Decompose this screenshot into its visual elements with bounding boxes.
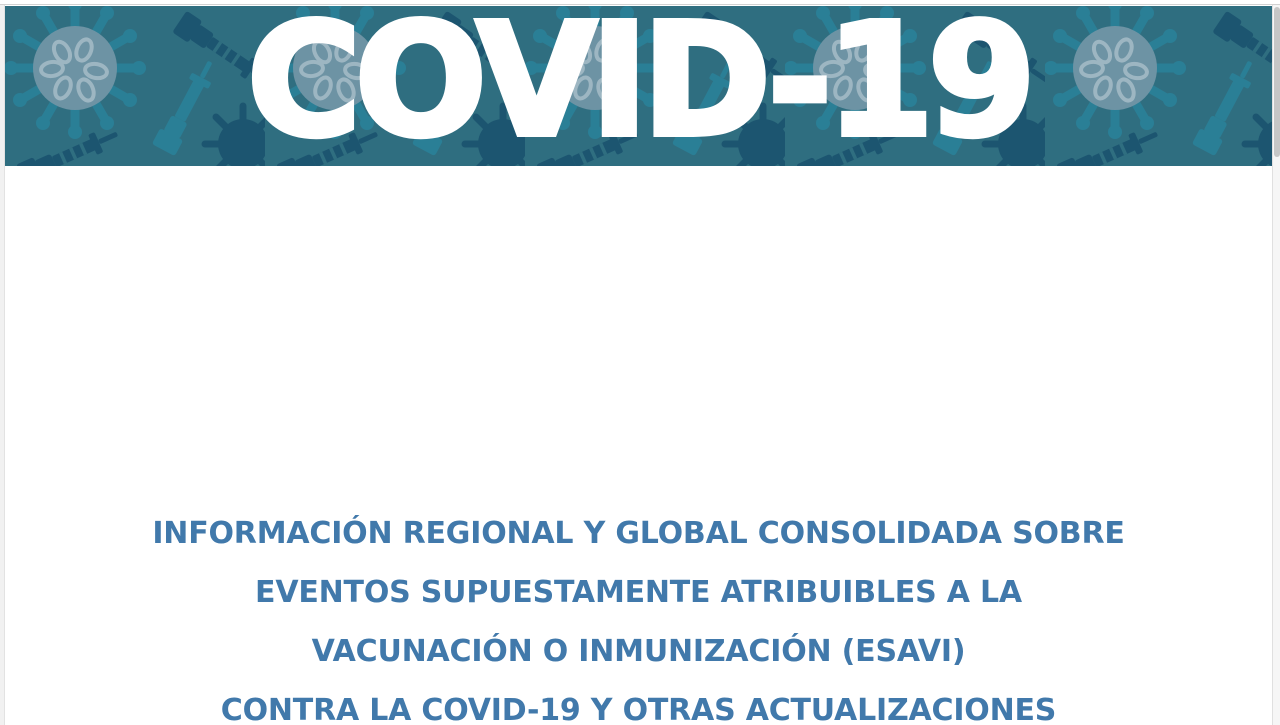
viewport-top-strip [0,0,1280,5]
slide-title-line-1: INFORMACIÓN REGIONAL Y GLOBAL CONSOLIDAD… [5,504,1272,563]
banner-headline: COVID-19 [5,6,1272,166]
covid-banner: COVID-19 [5,6,1272,166]
slide-title-line-4: CONTRA LA COVID-19 Y OTRAS ACTUALIZACION… [5,681,1272,725]
vertical-scrollbar-thumb[interactable] [1274,7,1280,157]
vertical-scrollbar[interactable] [1272,5,1280,725]
slide-title: INFORMACIÓN REGIONAL Y GLOBAL CONSOLIDAD… [5,504,1272,725]
slide-viewport: COVID-19 INFORMACIÓN REGIONAL Y GLOBAL C… [0,0,1280,725]
viewport-left-strip [0,5,5,725]
slide-page: COVID-19 INFORMACIÓN REGIONAL Y GLOBAL C… [5,6,1272,725]
slide-title-line-2: EVENTOS SUPUESTAMENTE ATRIBUIBLES A LA [5,563,1272,622]
slide-title-line-3: VACUNACIÓN O INMUNIZACIÓN (ESAVI) [5,622,1272,681]
